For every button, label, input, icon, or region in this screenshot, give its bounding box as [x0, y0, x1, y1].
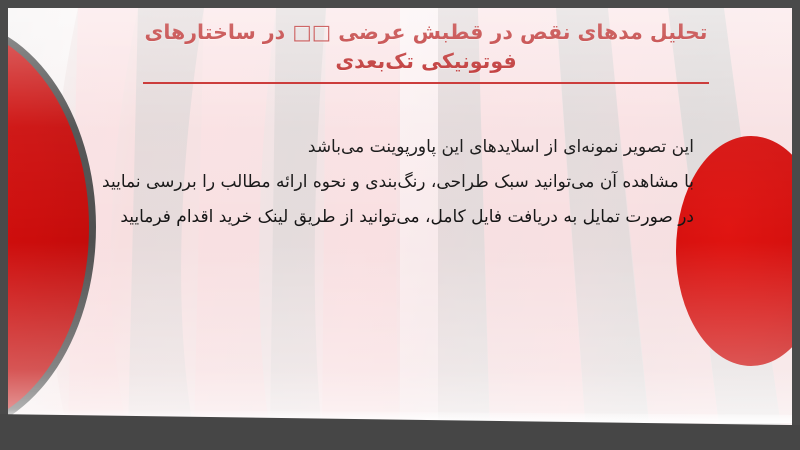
title-line-2: فوتونیکی تک‌بعدی [126, 47, 726, 76]
body-line-2: با مشاهده آن می‌توانید سبک طراحی، رنگ‌بن… [84, 165, 694, 200]
body-line-3: در صورت تمایل به دریافت فایل کامل، می‌تو… [84, 200, 694, 235]
title-underline-rule [143, 82, 709, 84]
slide-canvas: تحلیل مدهای نقص در قطبش عرضی □□ در ساختا… [8, 8, 792, 433]
slide-body: این تصویر نمونه‌ای از اسلایدهای این پاور… [84, 130, 694, 235]
title-line-1: تحلیل مدهای نقص در قطبش عرضی □□ در ساختا… [126, 18, 726, 47]
left-red-ellipse-decoration [8, 18, 96, 433]
slide-title: تحلیل مدهای نقص در قطبش عرضی □□ در ساختا… [126, 18, 726, 84]
presentation-slide: تحلیل مدهای نقص در قطبش عرضی □□ در ساختا… [0, 0, 800, 450]
body-line-1: این تصویر نمونه‌ای از اسلایدهای این پاور… [84, 130, 694, 165]
